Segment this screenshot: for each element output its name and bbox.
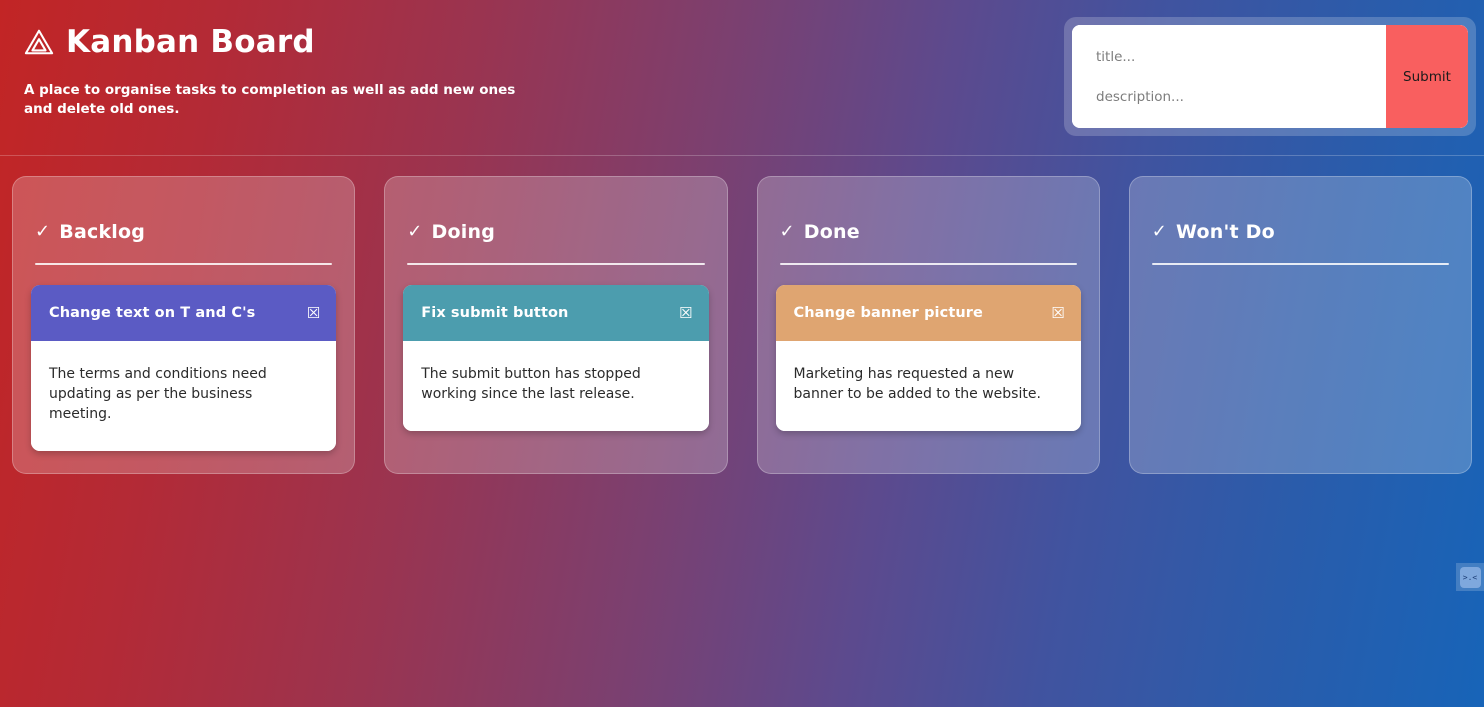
add-task-form: Submit — [1072, 25, 1468, 128]
check-icon: ✓ — [780, 223, 795, 241]
task-card-header: Change text on T and C's ☒ — [31, 285, 336, 341]
corner-widget-face-icon: >.< — [1460, 567, 1481, 588]
column-divider — [35, 263, 332, 265]
column-header-done: ✓ Done — [776, 195, 1081, 243]
column-header-wont-do: ✓ Won't Do — [1148, 195, 1453, 243]
column-wont-do[interactable]: ✓ Won't Do — [1129, 176, 1472, 474]
task-card-title: Fix submit button — [421, 305, 568, 321]
delete-task-icon[interactable]: ☒ — [677, 304, 694, 323]
column-header-backlog: ✓ Backlog — [31, 195, 336, 243]
kanban-board: ✓ Backlog Change text on T and C's ☒ The… — [0, 176, 1484, 474]
task-card[interactable]: Change text on T and C's ☒ The terms and… — [31, 285, 336, 451]
page-subtitle: A place to organise tasks to completion … — [24, 81, 524, 120]
task-title-input[interactable] — [1096, 49, 1357, 65]
page-header: Kanban Board A place to organise tasks t… — [0, 0, 1484, 156]
page-title: Kanban Board — [66, 26, 315, 59]
delete-task-icon[interactable]: ☒ — [305, 304, 322, 323]
task-card[interactable]: Fix submit button ☒ The submit button ha… — [403, 285, 708, 431]
column-divider — [1152, 263, 1449, 265]
delete-task-icon[interactable]: ☒ — [1049, 304, 1066, 323]
task-card-title: Change banner picture — [794, 305, 983, 321]
column-divider — [780, 263, 1077, 265]
card-list-backlog: Change text on T and C's ☒ The terms and… — [31, 285, 336, 451]
task-card-title: Change text on T and C's — [49, 305, 255, 321]
task-card-header: Fix submit button ☒ — [403, 285, 708, 341]
add-task-form-container: Submit — [1064, 17, 1476, 136]
column-header-doing: ✓ Doing — [403, 195, 708, 243]
header-title-block: Kanban Board A place to organise tasks t… — [24, 26, 924, 120]
column-doing[interactable]: ✓ Doing Fix submit button ☒ The submit b… — [384, 176, 727, 474]
card-list-doing: Fix submit button ☒ The submit button ha… — [403, 285, 708, 431]
check-icon: ✓ — [407, 223, 422, 241]
task-card[interactable]: Change banner picture ☒ Marketing has re… — [776, 285, 1081, 431]
card-list-done: Change banner picture ☒ Marketing has re… — [776, 285, 1081, 431]
task-card-header: Change banner picture ☒ — [776, 285, 1081, 341]
title-row: Kanban Board — [24, 26, 924, 59]
column-done[interactable]: ✓ Done Change banner picture ☒ Marketing… — [757, 176, 1100, 474]
task-card-description: The terms and conditions need updating a… — [31, 341, 336, 451]
column-label: Won't Do — [1176, 221, 1275, 243]
column-divider — [407, 263, 704, 265]
column-backlog[interactable]: ✓ Backlog Change text on T and C's ☒ The… — [12, 176, 355, 474]
check-icon: ✓ — [1152, 223, 1167, 241]
column-label: Backlog — [59, 221, 145, 243]
submit-button[interactable]: Submit — [1386, 25, 1468, 128]
corner-widget[interactable]: >.< — [1456, 563, 1484, 591]
task-card-description: The submit button has stopped working si… — [403, 341, 708, 431]
task-card-description: Marketing has requested a new banner to … — [776, 341, 1081, 431]
column-label: Doing — [432, 221, 495, 243]
check-icon: ✓ — [35, 223, 50, 241]
task-description-input[interactable] — [1096, 89, 1357, 105]
add-task-fields — [1072, 25, 1386, 128]
column-label: Done — [804, 221, 860, 243]
warning-triangle-icon — [24, 27, 54, 57]
